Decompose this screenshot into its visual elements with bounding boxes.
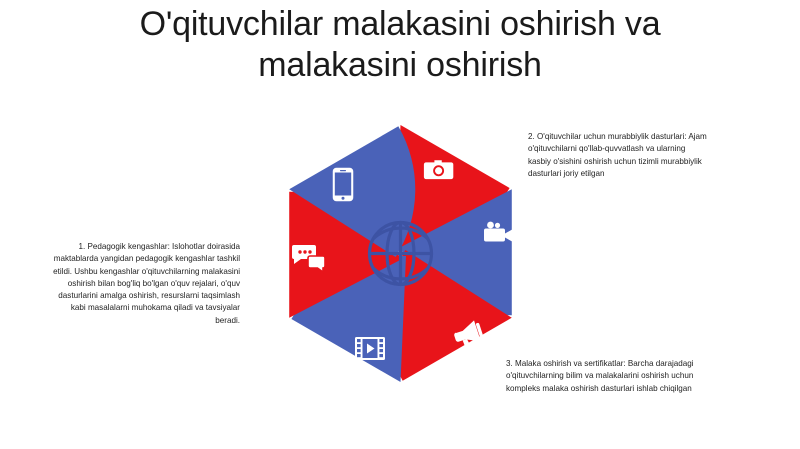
callout-text-2: 2. O'qituvchilar uchun murabbiylik dastu… [528, 131, 710, 180]
callout-text-1: 1. Pedagogik kengashlar: Islohotlar doir… [44, 241, 240, 327]
smartphone-icon [333, 168, 353, 201]
page-title: O'qituvchilar malakasini oshirish va mal… [60, 4, 740, 87]
camera-icon [424, 160, 453, 179]
slide-canvas: O'qituvchilar malakasini oshirish va mal… [0, 0, 800, 449]
globe-icon [370, 223, 432, 285]
callout-text-3: 3. Malaka oshirish va sertifikatlar: Bar… [506, 358, 696, 395]
aperture-diagram [262, 115, 539, 392]
film-play-icon [355, 337, 385, 360]
